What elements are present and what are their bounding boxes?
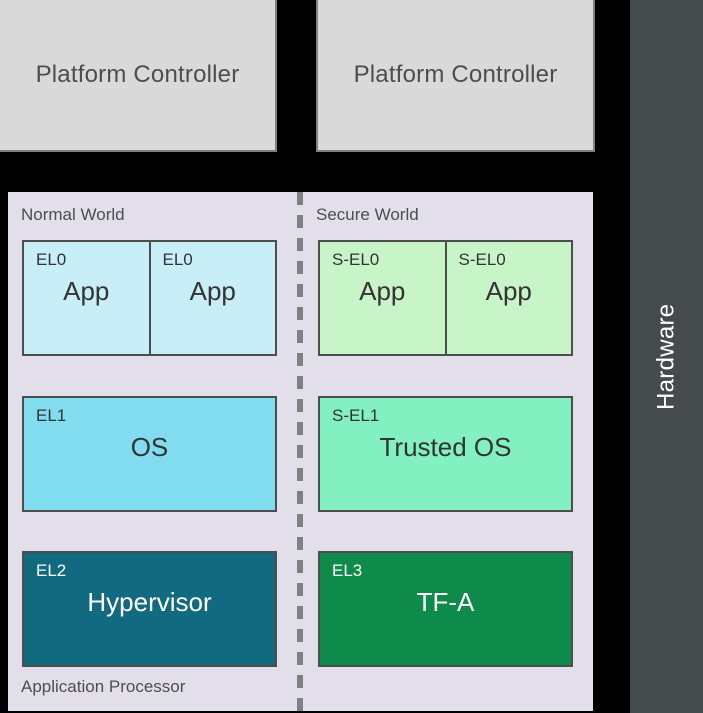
el-tag: EL3	[332, 561, 362, 581]
el-title: Hypervisor	[24, 587, 275, 618]
el-title: App	[151, 276, 276, 307]
world-divider-dashed-line	[297, 192, 303, 711]
application-processor-panel: Normal World Secure World EL0 App EL0 Ap…	[8, 192, 593, 711]
hardware-label: Hardware	[630, 0, 703, 713]
normal-world-label: Normal World	[21, 205, 125, 225]
hardware-bar: Hardware	[630, 0, 703, 713]
secure-world-sel0-app-pair: S-EL0 App S-EL0 App	[318, 240, 573, 356]
el-title: TF-A	[320, 587, 571, 618]
normal-world-el0-app-1: EL0 App	[24, 242, 149, 354]
platform-controller-box-2: Platform Controller	[316, 0, 595, 152]
el-tag: EL0	[36, 250, 66, 270]
el-title: App	[24, 276, 149, 307]
normal-world-el1-os-box: EL1 OS	[22, 396, 277, 512]
normal-world-el0-app-2: EL0 App	[149, 242, 276, 354]
el-tag: S-EL0	[332, 250, 379, 270]
el-title: App	[320, 276, 445, 307]
secure-world-sel0-app-1: S-EL0 App	[320, 242, 445, 354]
secure-world-sel0-app-2: S-EL0 App	[445, 242, 572, 354]
el-tag: EL1	[36, 406, 66, 426]
el-tag: EL2	[36, 561, 66, 581]
platform-controller-label-1: Platform Controller	[36, 61, 240, 89]
secure-world-el3-tfa-box: EL3 TF-A	[318, 551, 573, 667]
secure-world-sel1-trusted-os-box: S-EL1 Trusted OS	[318, 396, 573, 512]
application-processor-label: Application Processor	[21, 677, 185, 697]
el-tag: S-EL1	[332, 406, 379, 426]
el-title: App	[447, 276, 572, 307]
platform-controller-box-1: Platform Controller	[0, 0, 277, 152]
secure-world-label: Secure World	[316, 205, 419, 225]
el-tag: S-EL0	[459, 250, 506, 270]
el-tag: EL0	[163, 250, 193, 270]
el-title: OS	[24, 432, 275, 463]
normal-world-el0-app-pair: EL0 App EL0 App	[22, 240, 277, 356]
normal-world-el2-hypervisor-box: EL2 Hypervisor	[22, 551, 277, 667]
platform-controller-label-2: Platform Controller	[354, 61, 558, 89]
el-title: Trusted OS	[320, 432, 571, 463]
